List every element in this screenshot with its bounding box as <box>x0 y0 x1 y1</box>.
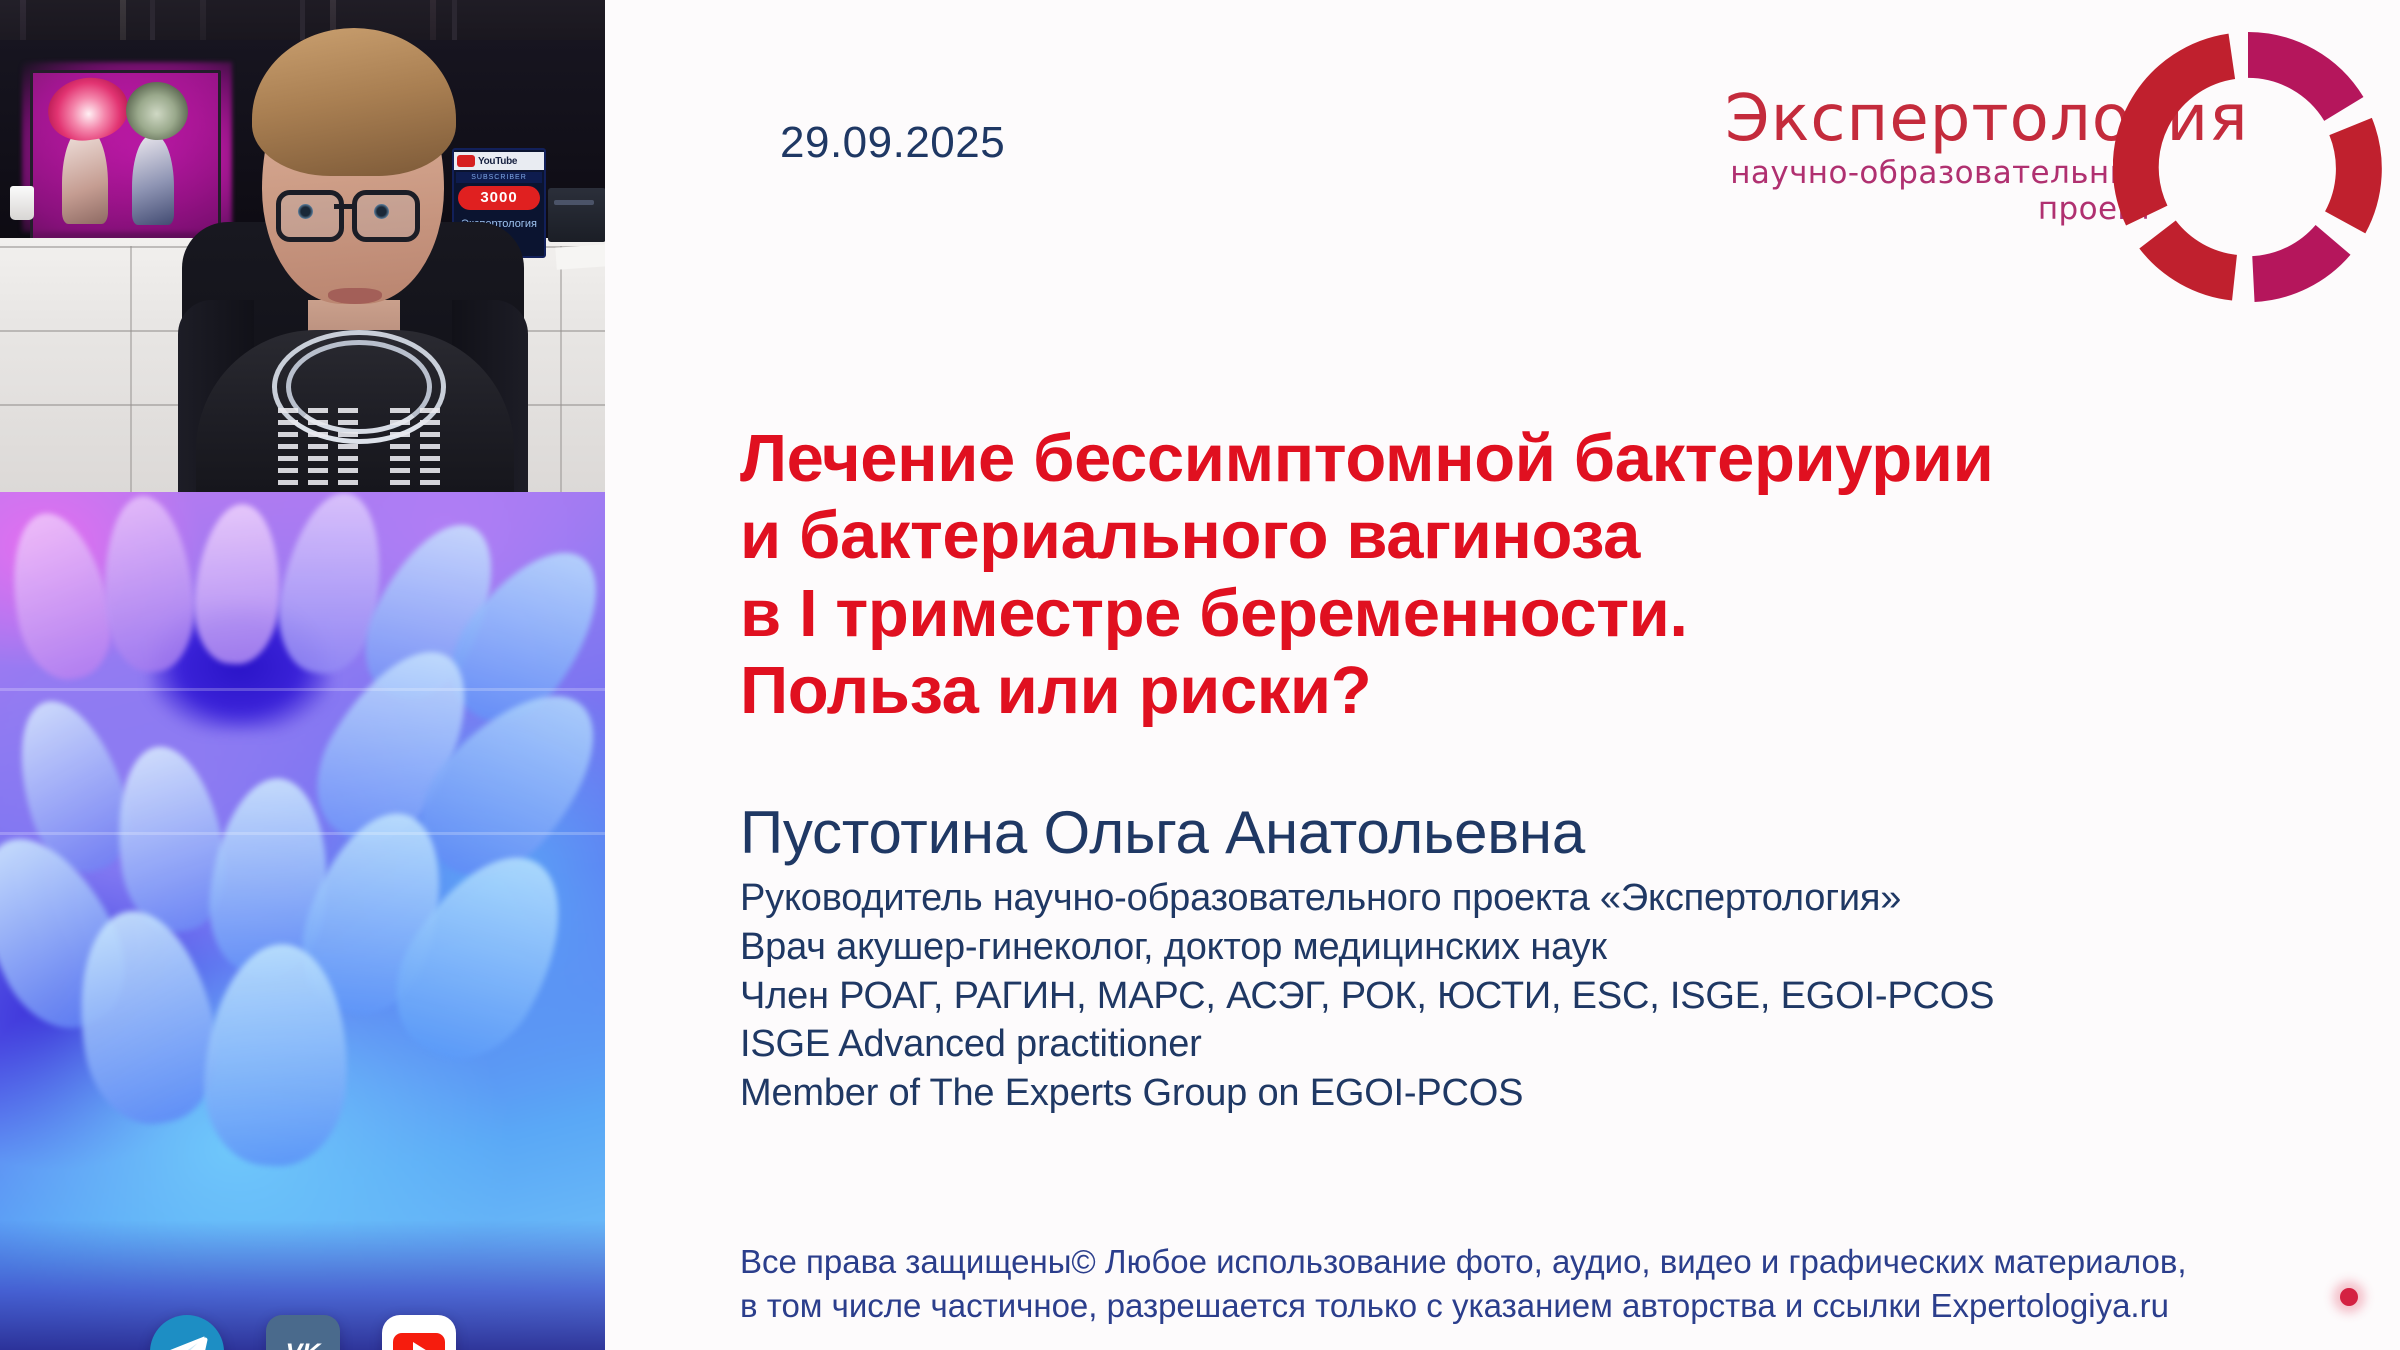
recording-dot <box>2340 1288 2358 1306</box>
slide-title-line-2: и бактериального вагиноза <box>740 497 2300 574</box>
desk-printer <box>548 188 605 242</box>
presenter-block: Пустотина Ольга Анатольевна Руководитель… <box>740 800 2340 1118</box>
presenter-webcam-feed[interactable]: YouTube SUBSCRIBER 3000 Экспертология 5 <box>0 0 605 492</box>
telegram-icon[interactable] <box>150 1315 224 1350</box>
slide-title-line-1: Лечение бессимптомной бактериурии <box>740 420 2300 497</box>
desk-paper <box>555 244 605 269</box>
youtube-icon[interactable] <box>382 1315 456 1350</box>
presenter-mouth <box>328 288 382 304</box>
logo-subtitle: научно-образовательный проект <box>1725 155 2155 227</box>
blouse-embroidery <box>308 408 328 492</box>
youtube-play-badge <box>393 1333 445 1350</box>
social-links-row: VK <box>0 1315 605 1350</box>
segmented-ring-logo-icon <box>2113 32 2383 302</box>
decor-bust-left <box>62 128 108 224</box>
panel-scanline <box>0 832 605 835</box>
slide-title-line-3: в I триместре беременности. <box>740 575 2300 652</box>
desk-cup <box>10 186 34 220</box>
decor-bust-right <box>132 135 174 225</box>
slide-title-line-4: Польза или риски? <box>740 652 2300 729</box>
presenter-credential: Member of The Experts Group on EGOI-PCOS <box>740 1069 2340 1118</box>
youtube-icon <box>457 155 475 167</box>
left-video-column: YouTube SUBSCRIBER 3000 Экспертология 5 <box>0 0 605 1350</box>
expertologia-logo: Экспертология научно-образовательный про… <box>1725 30 2385 270</box>
printer-slot <box>554 200 594 205</box>
desk-seam <box>560 246 562 492</box>
slide-content: 29.09.2025 Экспертология научно-образова… <box>605 0 2400 1350</box>
youtube-plaque-label: SUBSCRIBER <box>456 172 542 183</box>
youtube-plaque-count: 3000 <box>458 186 540 210</box>
panel-scanline <box>0 688 605 691</box>
presenter-name: Пустотина Ольга Анатольевна <box>740 800 2340 866</box>
logo-text-group: Экспертология научно-образовательный про… <box>1725 86 2155 227</box>
presenter-credential: Врач акушер-гинеколог, доктор медицински… <box>740 923 2340 972</box>
presenter-credential: Член РОАГ, РАГИН, МАРС, АСЭГ, РОК, ЮСТИ,… <box>740 972 2340 1021</box>
presenter-credential: ISGE Advanced practitioner <box>740 1020 2340 1069</box>
presentation-screen: YouTube SUBSCRIBER 3000 Экспертология 5 <box>0 0 2400 1350</box>
presenter-credential: Руководитель научно-образовательного про… <box>740 874 2340 923</box>
slide-date: 29.09.2025 <box>780 118 1005 168</box>
logo-title: Экспертология <box>1725 86 2155 153</box>
youtube-plaque-brand: YouTube <box>478 156 517 167</box>
vk-icon[interactable]: VK <box>266 1315 340 1350</box>
blouse-embroidery <box>420 408 440 492</box>
play-triangle-icon <box>413 1342 429 1350</box>
blouse-embroidery <box>338 408 358 492</box>
eyeglasses-bridge <box>334 204 354 209</box>
copyright-footer: Все права защищены© Любое использование … <box>740 1240 2360 1327</box>
blouse-embroidery <box>278 408 298 492</box>
copyright-line-1: Все права защищены© Любое использование … <box>740 1240 2360 1284</box>
blouse-embroidery <box>390 408 410 492</box>
presenter-eye-right <box>374 204 389 219</box>
svg-text:VK: VK <box>285 1339 322 1350</box>
presenter-eye-left <box>298 204 313 219</box>
copyright-line-2: в том числе частичное, разрешается тольк… <box>740 1284 2360 1328</box>
youtube-plaque-header: YouTube <box>454 152 544 170</box>
slide-title: Лечение бессимптомной бактериурии и бакт… <box>740 420 2300 730</box>
brand-social-panel: VK expertologiya <box>0 492 605 1350</box>
desk-seam <box>130 246 132 492</box>
